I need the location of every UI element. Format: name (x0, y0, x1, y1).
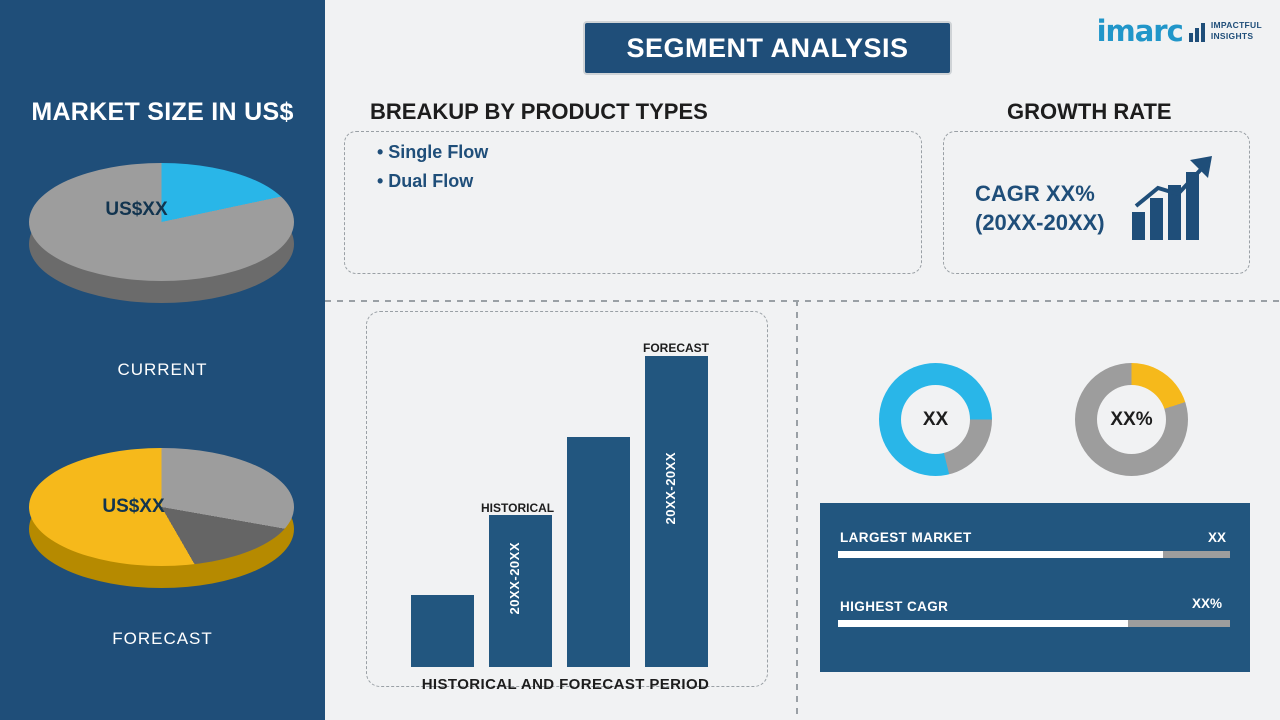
bar-0 (411, 595, 474, 667)
pie-value-wrap-2: US$XX (29, 448, 294, 566)
highest-cagr-value: XX% (1192, 596, 1222, 611)
forecast-value-label: US$XX (102, 496, 164, 518)
infographic-page: MARKET SIZE IN US$ US$XX CURRENT US$XX F… (0, 0, 1280, 720)
largest-market-value: XX (1208, 530, 1226, 545)
logo-wordmark: imarc (1097, 14, 1183, 48)
market-size-title: MARKET SIZE IN US$ (0, 98, 325, 127)
cagr-text: CAGR XX% (20XX-20XX) (975, 179, 1105, 237)
bar-3-label: 20XX-20XX (663, 452, 678, 524)
cagr-line2: (20XX-20XX) (975, 208, 1105, 237)
breakup-item-0: • Single Flow (377, 142, 488, 163)
pie-value-wrap: US$XX (29, 163, 294, 281)
current-market-pie: US$XX (29, 163, 294, 303)
historical-caption: HISTORICAL (481, 501, 554, 515)
axis-caption: HISTORICAL AND FORECAST PERIOD (383, 676, 748, 693)
logo-tagline-line1: IMPACTFUL (1211, 20, 1262, 31)
volume-donut-value: XX (901, 385, 970, 454)
bar-1-label: 20XX-20XX (507, 542, 522, 614)
volume-donut: XX (879, 363, 992, 476)
breakup-heading: BREAKUP BY PRODUCT TYPES (370, 99, 708, 125)
largest-market-track (838, 551, 1230, 558)
share-donut: XX% (1075, 363, 1188, 476)
vertical-divider (796, 300, 798, 720)
logo-bars-icon (1189, 20, 1205, 42)
horizontal-divider (325, 300, 1280, 302)
logo-tagline: IMPACTFUL INSIGHTS (1211, 20, 1262, 42)
current-value-label: US$XX (105, 199, 167, 221)
share-donut-value: XX% (1097, 385, 1166, 454)
bar-3: 20XX-20XX (645, 356, 708, 667)
imarc-logo: imarc IMPACTFUL INSIGHTS (1097, 14, 1262, 48)
forecast-market-pie: US$XX (29, 448, 294, 590)
page-title: SEGMENT ANALYSIS (583, 21, 952, 75)
forecast-label: FORECAST (0, 629, 325, 649)
highest-cagr-label: HIGHEST CAGR (840, 599, 948, 614)
left-panel: MARKET SIZE IN US$ US$XX CURRENT US$XX F… (0, 0, 325, 720)
highest-cagr-track (838, 620, 1230, 627)
breakup-item-1: • Dual Flow (377, 171, 473, 192)
bar-1: 20XX-20XX (489, 515, 552, 667)
growth-arrow-icon (1128, 150, 1228, 240)
forecast-caption: FORECAST (643, 341, 709, 355)
highest-cagr-fill (838, 620, 1128, 627)
cagr-line1: CAGR XX% (975, 179, 1105, 208)
growth-bars-icon (1128, 150, 1228, 240)
largest-market-fill (838, 551, 1163, 558)
current-label: CURRENT (0, 360, 325, 380)
stats-card: LARGEST MARKET XX HIGHEST CAGR XX% (820, 503, 1250, 672)
bar-2 (567, 437, 630, 667)
logo-tagline-line2: INSIGHTS (1211, 31, 1262, 42)
growth-rate-heading: GROWTH RATE (1007, 99, 1172, 125)
largest-market-label: LARGEST MARKET (840, 530, 972, 545)
